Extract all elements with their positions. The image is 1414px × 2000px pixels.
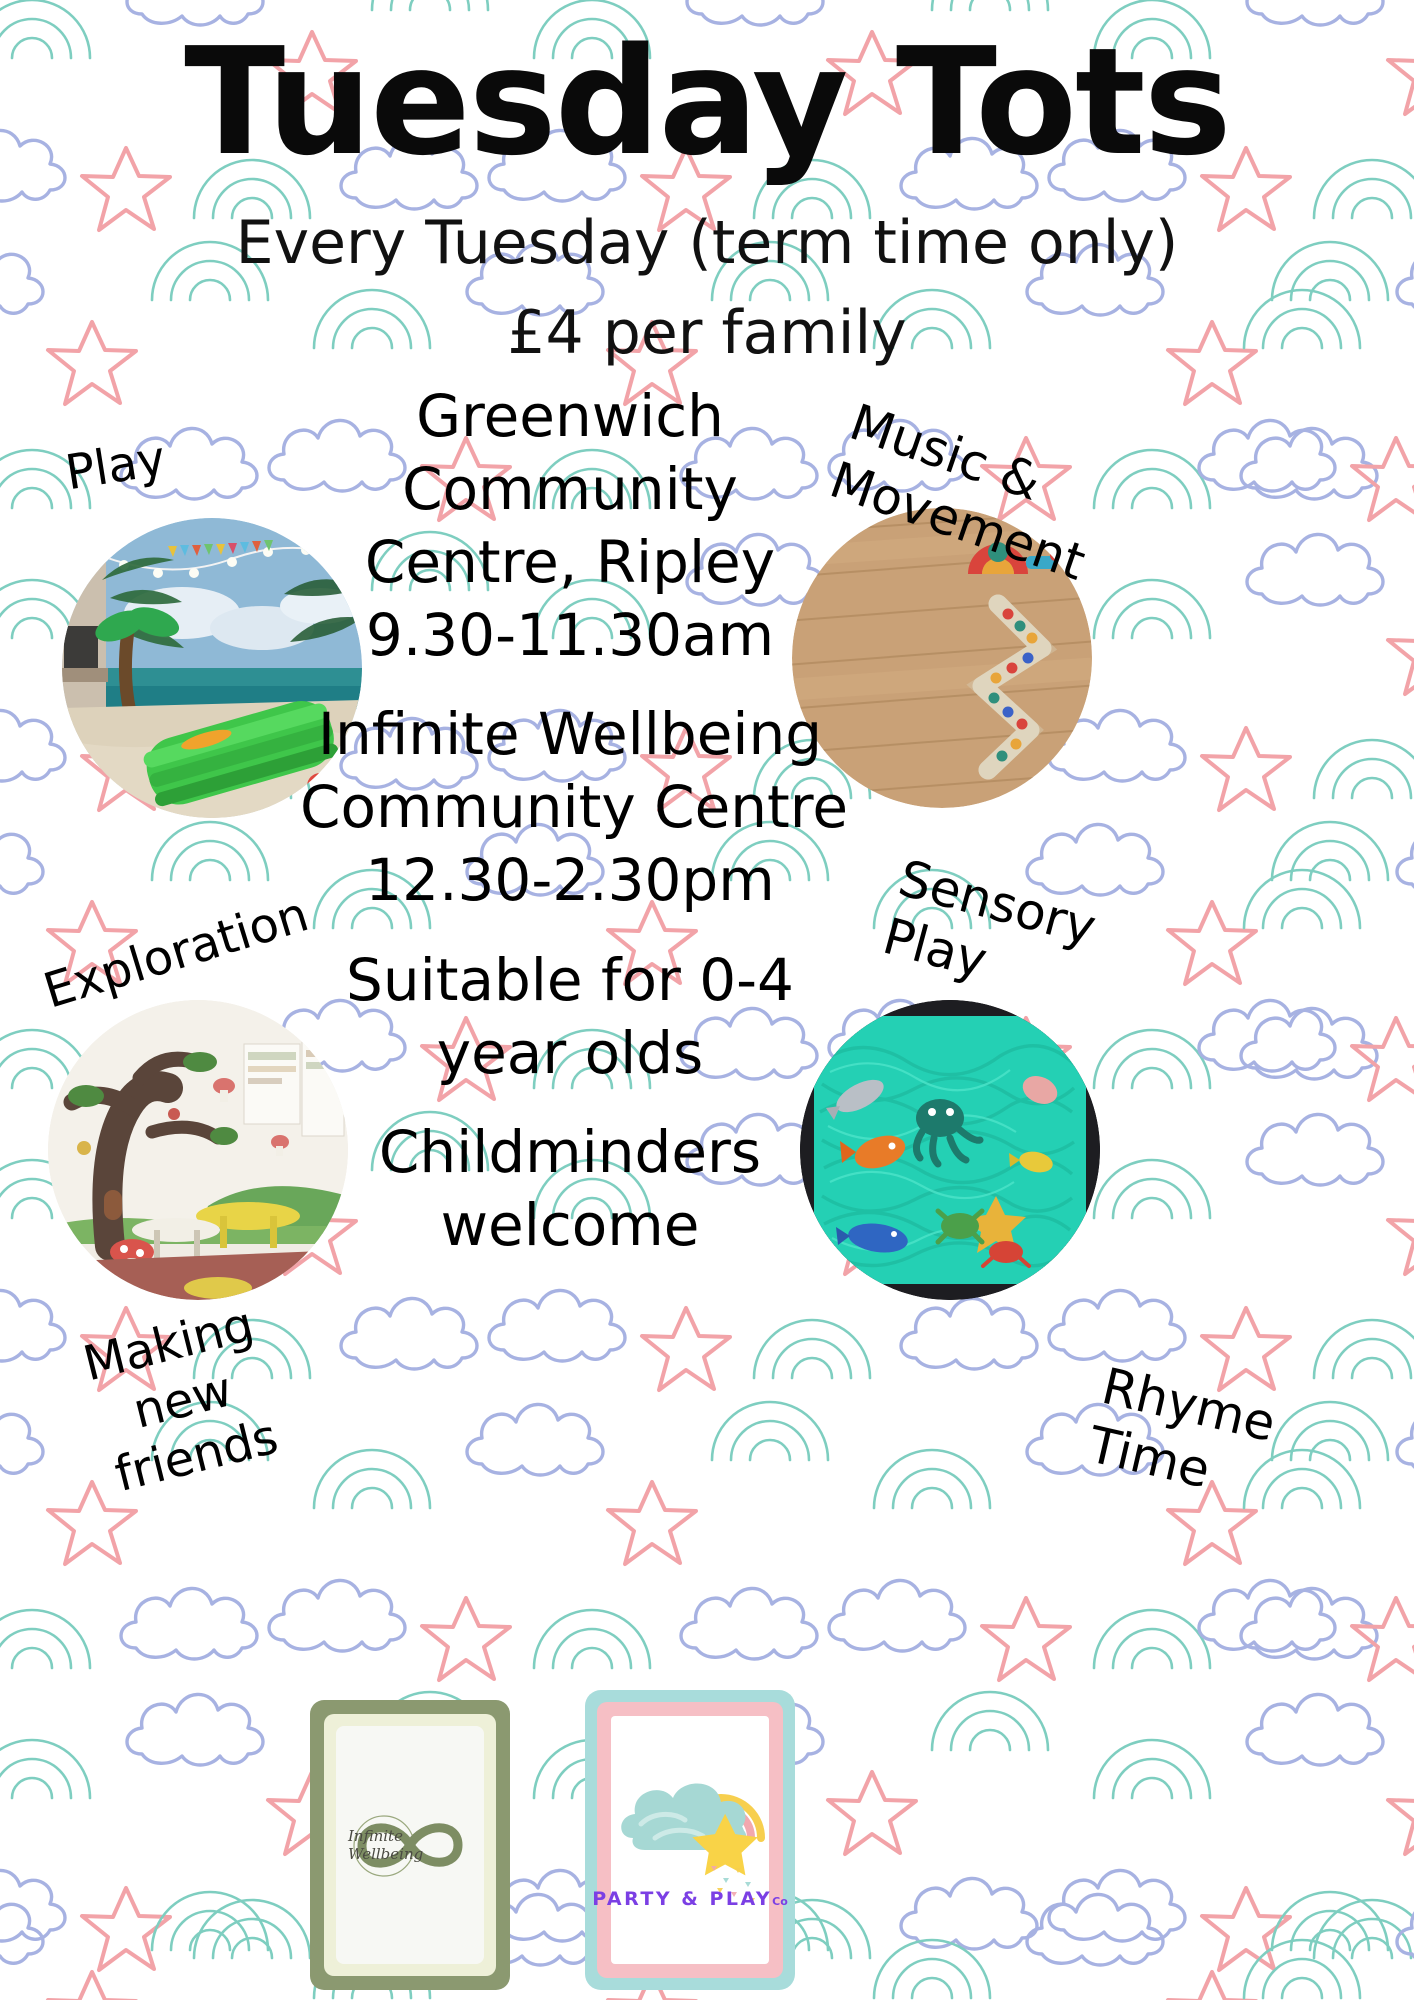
- venue-one-line-1: Greenwich: [300, 380, 840, 453]
- pp-word-play: PLAY: [709, 1888, 772, 1910]
- sensory-photo-image: [800, 1000, 1100, 1300]
- label-rhyme-time: Rhyme Time: [1083, 1356, 1281, 1512]
- infinite-wellbeing-logo: Infinite Wellbeing: [310, 1700, 510, 1990]
- childminders-line-1: Childminders: [300, 1116, 840, 1189]
- poster-subtitle-price: £4 per family: [0, 298, 1414, 368]
- party-play-logo: PARTY & PLAYCo: [585, 1690, 795, 1990]
- venue-one-block: Greenwich Community Centre, Ripley 9.30-…: [300, 380, 840, 672]
- poster-root: Tuesday Tots Every Tuesday (term time on…: [0, 0, 1414, 2000]
- cloud-rainbow-star-icon: [611, 1716, 769, 1964]
- venue-one-time: 9.30-11.30am: [300, 599, 840, 672]
- pp-wordmark: PARTY & PLAYCo: [585, 1888, 795, 1910]
- pp-word-co: Co: [772, 1895, 788, 1908]
- poster-subtitle-schedule: Every Tuesday (term time only): [0, 208, 1414, 278]
- label-play: Play: [62, 432, 169, 501]
- suitability-line-1: Suitable for 0-4: [300, 944, 840, 1017]
- iw-word-2: Wellbeing: [348, 1846, 424, 1864]
- childminders-line-2: welcome: [300, 1189, 840, 1262]
- suitability-block: Suitable for 0-4 year olds: [300, 944, 840, 1090]
- label-sensory-play: Sensory Play: [877, 848, 1102, 1016]
- venue-two-line-1: Infinite Wellbeing: [300, 698, 840, 771]
- poster-info-column: Greenwich Community Centre, Ripley 9.30-…: [300, 380, 840, 1262]
- venue-two-time: 12.30-2.30pm: [300, 844, 840, 917]
- childminders-block: Childminders welcome: [300, 1116, 840, 1262]
- suitability-line-2: year olds: [300, 1017, 840, 1090]
- venue-two-block: Infinite Wellbeing Community Centre 12.3…: [300, 698, 840, 917]
- poster-title: Tuesday Tots: [0, 28, 1414, 176]
- venue-one-line-2: Community: [300, 453, 840, 526]
- venue-two-line-2: Community Centre: [300, 771, 840, 844]
- label-making-new-friends: Making new friends: [78, 1296, 288, 1505]
- pp-ampersand: &: [681, 1888, 700, 1910]
- iw-wordmark: Infinite Wellbeing: [348, 1828, 424, 1863]
- venue-one-line-3: Centre, Ripley: [300, 526, 840, 599]
- pp-word-party: PARTY: [592, 1888, 672, 1910]
- sensory-photo: [800, 1000, 1100, 1300]
- iw-word-1: Infinite: [348, 1828, 424, 1846]
